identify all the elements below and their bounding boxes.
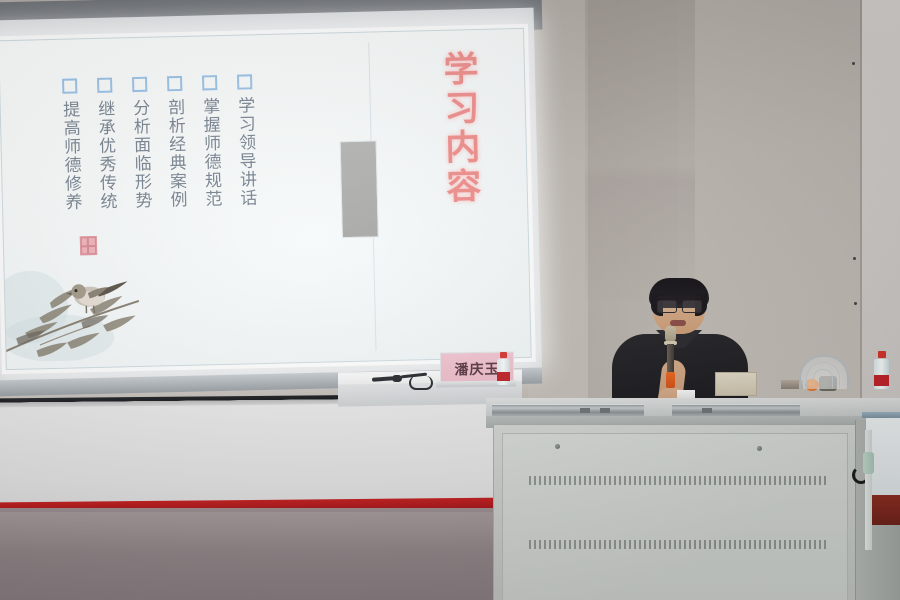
bottle-label [497, 372, 510, 381]
mic-grille [665, 326, 676, 342]
list-item: 剖析经典案例 [160, 76, 191, 210]
floor-reflection [0, 512, 520, 552]
background-rail [862, 412, 900, 418]
wall-screw-icon [853, 257, 856, 260]
slide-title: 学 习 内 容 [427, 52, 499, 206]
wall-screw-icon [852, 62, 855, 65]
vent-slots [529, 476, 829, 485]
handheld-microphone[interactable] [664, 326, 677, 388]
rail-notch [580, 408, 590, 413]
water-bottle-right [874, 351, 889, 389]
fan-ring-inner [813, 369, 833, 388]
nameplate-text: 潘庆玉 [455, 358, 500, 379]
cabinet-screw-icon [555, 444, 560, 449]
vent-slots [529, 540, 829, 549]
fan-stand-joint [863, 452, 874, 474]
list-item: 学习领导讲话 [230, 74, 261, 208]
water-bottle-left [497, 352, 510, 385]
bullet-label: 分析面临形势 [127, 99, 155, 211]
eyebrow-right [684, 296, 701, 299]
bullet-square-icon [62, 79, 77, 94]
mic-shaft [667, 344, 674, 374]
bullet-label: 继承优秀传统 [92, 100, 120, 212]
title-char-4: 容 [446, 170, 482, 206]
wall-stain [585, 0, 695, 300]
list-item: 提高师德修养 [55, 79, 86, 213]
bullet-label: 学习领导讲话 [232, 97, 260, 209]
bullet-square-icon [132, 77, 147, 92]
lens-left [657, 300, 677, 313]
beige-box [715, 372, 757, 396]
wall-screw-icon [854, 302, 857, 305]
cabinet-door[interactable] [502, 433, 848, 600]
eyeglasses-icon [657, 300, 702, 311]
title-char-3: 内 [445, 131, 481, 167]
lecture-hall-photo: 学 习 内 容 学习领导讲话 掌握师德规范 剖析经典案例 [0, 0, 900, 600]
podium-cabinet[interactable] [493, 424, 857, 600]
bottle-label [874, 375, 889, 386]
red-seal-stamp [80, 236, 97, 255]
bullet-square-icon [97, 78, 112, 93]
rail-notch [702, 408, 712, 413]
projection-screen[interactable]: 学 习 内 容 学习领导讲话 掌握师德规范 剖析经典案例 [0, 8, 542, 397]
cabinet-screw-icon [757, 446, 762, 451]
vga-cable-loop [409, 376, 433, 390]
title-char-1: 学 [443, 53, 479, 89]
slide-gray-accent-box [340, 141, 379, 239]
mic-handle-bottom [666, 372, 675, 388]
list-item: 掌握师德规范 [195, 75, 226, 209]
bullet-label: 剖析经典案例 [162, 98, 190, 210]
lower-white-wall [0, 402, 500, 514]
bullet-label: 掌握师德规范 [197, 97, 225, 209]
electric-fan[interactable] [799, 355, 845, 387]
bullet-square-icon [167, 76, 182, 91]
far-wall [862, 0, 900, 410]
seal-glyph [88, 246, 96, 255]
bottle-cap [878, 351, 886, 358]
presentation-slide: 学 习 内 容 学习领导讲话 掌握师德规范 剖析经典案例 [0, 28, 532, 370]
bullet-square-icon [202, 75, 217, 90]
eyebrow-left [658, 296, 675, 299]
bottle-cap [500, 352, 507, 358]
bullet-label: 提高师德修养 [57, 101, 85, 213]
lens-right [682, 300, 702, 313]
title-char-2: 习 [444, 92, 480, 128]
fan-stand-pole [865, 430, 872, 550]
wall-corner-seam [860, 0, 862, 410]
list-item: 分析面临形势 [125, 77, 156, 211]
bullet-square-icon [237, 75, 252, 90]
seal-glyph [88, 237, 96, 246]
rail-notch [600, 408, 610, 413]
list-item: 继承优秀传统 [90, 78, 121, 212]
